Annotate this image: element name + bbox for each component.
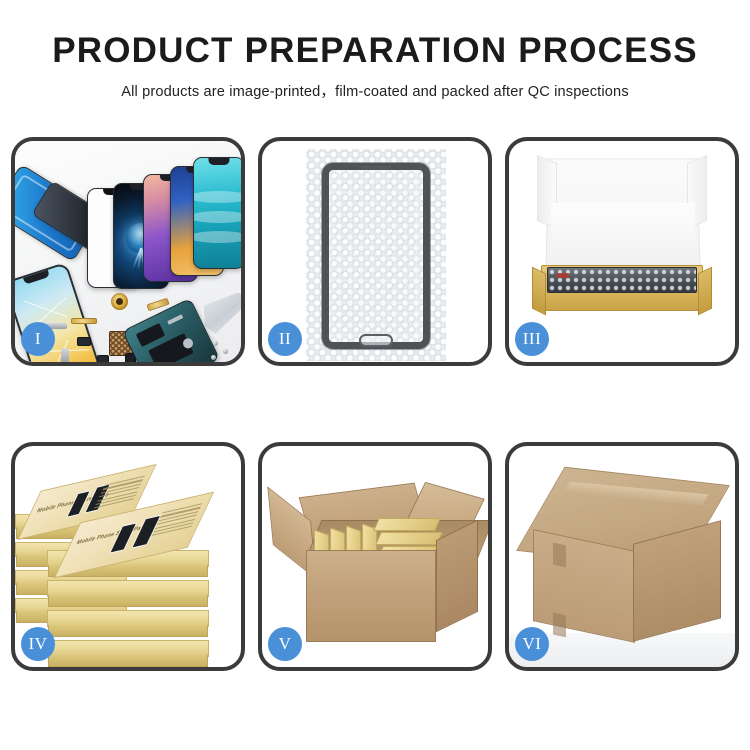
step-badge-iv: IV <box>21 627 55 661</box>
part-sim-tray <box>61 348 69 362</box>
carton-front <box>306 550 436 642</box>
part-chip-1 <box>77 337 91 346</box>
step-badge-ii: II <box>268 322 302 356</box>
tape-tab-lower <box>553 613 566 638</box>
step-badge-vi: VI <box>515 627 549 661</box>
header: PRODUCT PREPARATION PROCESS All products… <box>0 0 750 101</box>
step-panel-i: I <box>11 137 245 366</box>
page-subtitle: All products are image-printed，film-coat… <box>0 80 750 101</box>
tape-tab-upper <box>553 543 566 568</box>
step-panel-v: V <box>258 442 492 671</box>
step-badge-v: V <box>268 627 302 661</box>
carton-side <box>436 520 478 632</box>
step-panel-iii: III <box>505 137 739 366</box>
product-preparation-infographic: PRODUCT PREPARATION PROCESS All products… <box>0 0 750 750</box>
step-badge-iii: III <box>515 322 549 356</box>
part-chip-2 <box>97 355 109 362</box>
foam-padding <box>551 203 695 267</box>
part-flex-cable-1 <box>71 318 97 324</box>
process-steps-grid: I II <box>11 137 739 671</box>
step-panel-iv: Mobile Phone Spare Parts Mobile Phone Sp… <box>11 442 245 671</box>
stacked-box <box>47 640 209 657</box>
part-speaker-coil <box>111 293 128 310</box>
page-title: PRODUCT PREPARATION PROCESS <box>0 32 750 70</box>
wrapped-phone-screen <box>322 163 430 349</box>
step-badge-i: I <box>21 322 55 356</box>
screen-in-box <box>547 267 697 293</box>
stacked-box <box>47 580 209 597</box>
step-panel-vi: VI <box>505 442 739 671</box>
phone-teal-wallpaper <box>193 157 241 269</box>
step-panel-ii: II <box>258 137 492 366</box>
stacked-box <box>47 610 209 627</box>
packed-box <box>373 518 441 531</box>
packed-box <box>375 532 443 545</box>
